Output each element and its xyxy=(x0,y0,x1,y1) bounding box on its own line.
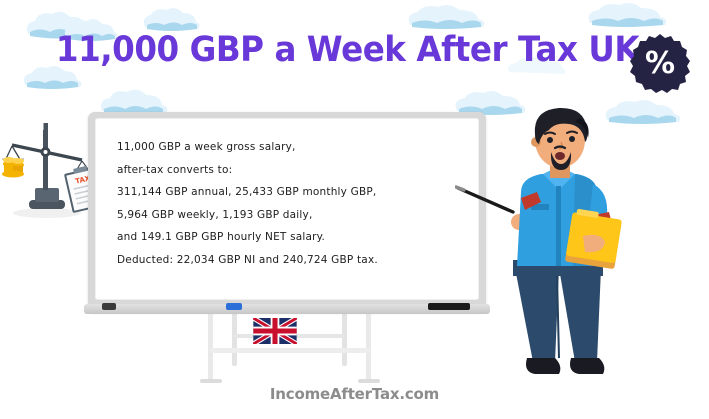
blue-marker-icon xyxy=(226,303,242,310)
percent-symbol: % xyxy=(629,33,691,95)
board-line-3: 311,144 GBP annual, 25,433 GBP monthly G… xyxy=(117,181,465,204)
uk-flag-icon xyxy=(253,318,297,344)
whiteboard-surface: 11,000 GBP a week gross salary, after-ta… xyxy=(95,118,479,300)
eraser-icon xyxy=(102,303,116,310)
board-line-2: after-tax converts to: xyxy=(117,159,465,182)
board-line-4: 5,964 GBP weekly, 1,193 GBP daily, xyxy=(117,204,465,227)
board-line-5: and 149.1 GBP GBP hourly NET salary. xyxy=(117,226,465,249)
poster-canvas: 11,000 GBP a Week After Tax UK % xyxy=(0,0,709,419)
whiteboard: 11,000 GBP a week gross salary, after-ta… xyxy=(88,112,486,312)
board-line-1: 11,000 GBP a week gross salary, xyxy=(117,136,465,159)
percent-badge-icon: % xyxy=(629,33,691,95)
whiteboard-text: 11,000 GBP a week gross salary, after-ta… xyxy=(117,136,465,271)
site-footer: IncomeAfterTax.com xyxy=(0,385,709,403)
board-line-6: Deducted: 22,034 GBP NI and 240,724 GBP … xyxy=(117,249,465,272)
whiteboard-tray xyxy=(84,304,490,314)
teacher-presenter-icon xyxy=(455,100,625,390)
page-title: 11,000 GBP a Week After Tax UK xyxy=(80,24,615,76)
